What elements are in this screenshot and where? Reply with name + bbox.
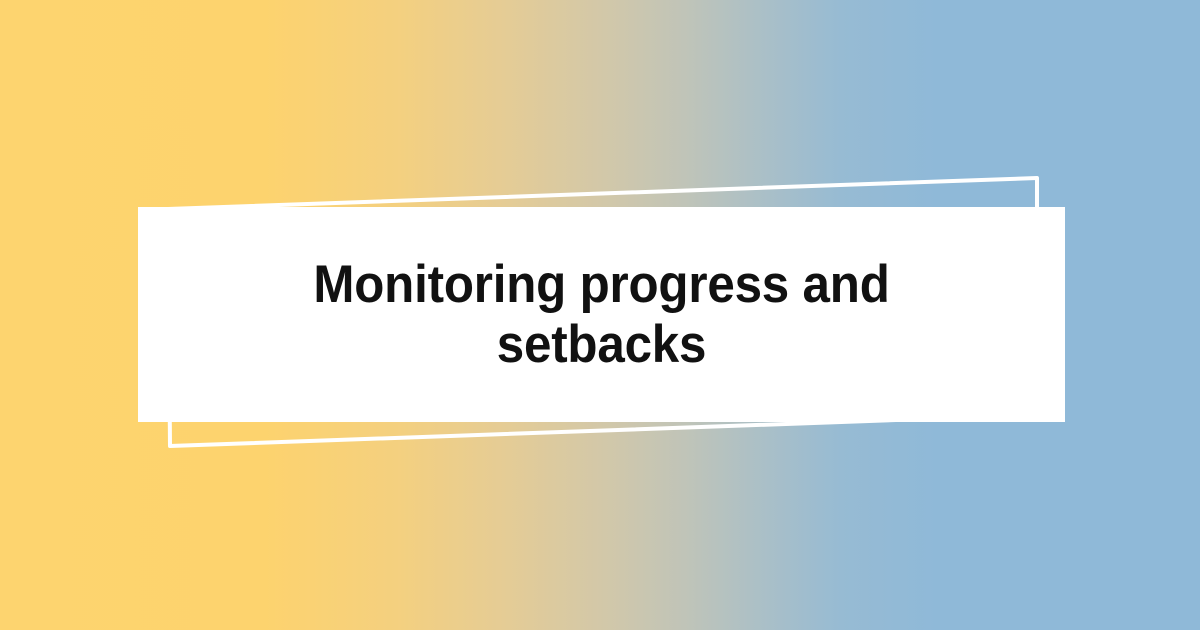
page-title: Monitoring progress and setbacks [202, 255, 1001, 374]
social-card-canvas: Monitoring progress and setbacks [0, 0, 1200, 630]
headline-card: Monitoring progress and setbacks [138, 207, 1065, 422]
